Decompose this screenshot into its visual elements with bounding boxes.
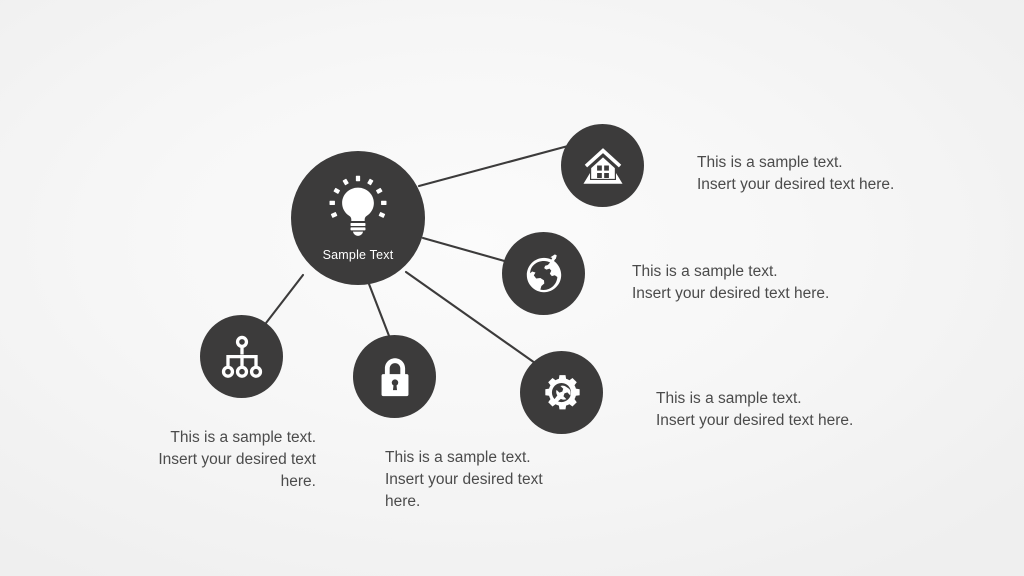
slide-canvas: Sample Text [0,0,1024,576]
home-icon [581,144,625,188]
hub-label: Sample Text [323,248,394,262]
connector-hub-globe [423,238,508,262]
hierarchy-icon [219,334,265,380]
lock-icon [374,356,416,398]
connector-hub-home [419,146,568,186]
caption-hierarchy: This is a sample text. Insert your desir… [131,427,316,493]
caption-lock: This is a sample text. Insert your desir… [385,447,570,513]
node-settings[interactable] [520,351,603,434]
node-globe[interactable] [502,232,585,315]
gear-wrench-icon [539,370,584,415]
node-hierarchy[interactable] [200,315,283,398]
lightbulb-icon [327,175,389,237]
caption-home: This is a sample text. Insert your desir… [697,152,957,196]
node-lock[interactable] [353,335,436,418]
connector-hub-hierarchy [266,275,303,323]
connector-hub-lock [369,284,391,341]
globe-icon [522,252,566,296]
caption-globe: This is a sample text. Insert your desir… [632,261,902,305]
caption-settings: This is a sample text. Insert your desir… [656,388,926,432]
node-home[interactable] [561,124,644,207]
node-hub-sample-text[interactable]: Sample Text [291,151,425,285]
